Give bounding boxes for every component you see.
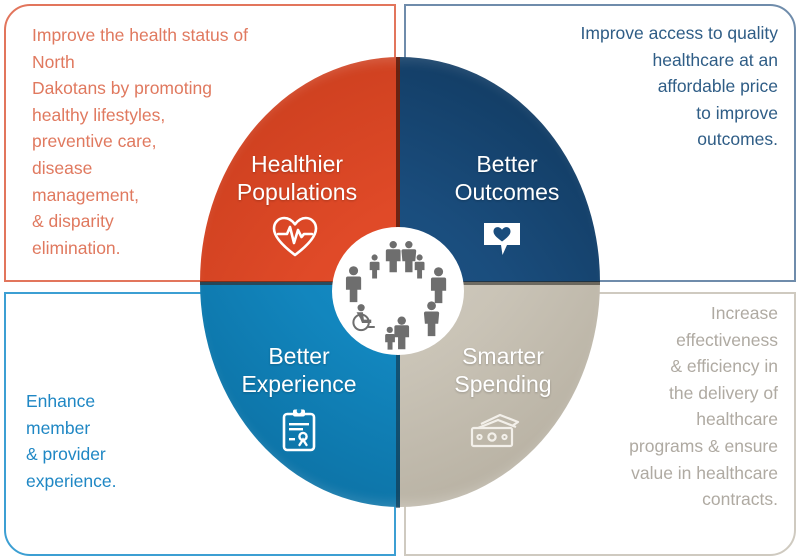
clipboard-person-icon xyxy=(281,408,317,457)
quadrant-diagram: Improve the health status of North Dakot… xyxy=(0,0,800,560)
speech-bubble-heart-icon xyxy=(482,220,522,263)
people-ring-icon xyxy=(334,229,462,353)
label-better-outcomes: Better Outcomes xyxy=(432,150,582,206)
heart-pulse-icon xyxy=(272,216,318,263)
description-smarter-spending: Increase effectiveness & efficiency in t… xyxy=(578,300,778,513)
money-banknotes-icon xyxy=(468,412,522,455)
label-healthier-populations: Healthier Populations xyxy=(218,150,376,206)
